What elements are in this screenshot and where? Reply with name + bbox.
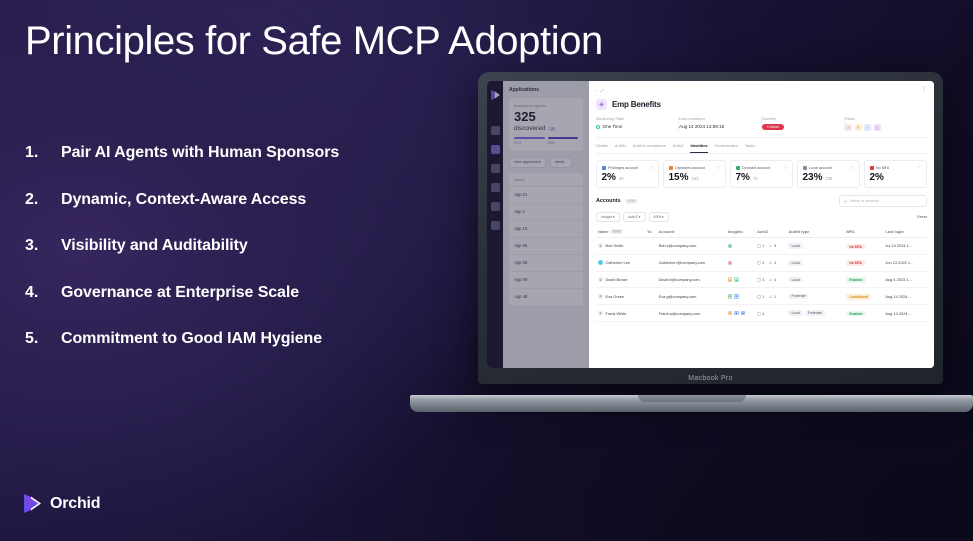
authn-tag: Local <box>788 243 802 249</box>
kpi-title: Local account <box>809 166 832 170</box>
cell-name-label: Catherine Lee <box>606 260 630 265</box>
list-item[interactable]: App 06 <box>509 255 583 272</box>
kpi-dormant-account[interactable]: Dormant account ⓘ 7% 71 <box>730 160 793 189</box>
kpi-value-row: 2% <box>870 173 922 183</box>
cell-authn-type: LocalFederate <box>786 305 844 322</box>
cell-account: Bob.s@company.com <box>657 238 726 255</box>
risk-icons: ☉ ⚲ ⋯ ▢ <box>845 124 881 131</box>
list-item-number: 2. <box>25 191 61 209</box>
list-item[interactable]: App 01 <box>509 187 583 204</box>
list-item-label: Visibility and Auditability <box>61 237 248 255</box>
table-header-row: Name 1035 To Account Insights AuthZ Auth… <box>596 226 927 238</box>
clock-icon[interactable] <box>491 183 500 192</box>
insight-badge-green[interactable]: ■ <box>728 244 733 249</box>
filter-authz[interactable]: AuthZ ▾ <box>623 212 646 222</box>
kpi-left: Dormant account <box>736 166 771 170</box>
shield-icon[interactable] <box>491 164 500 173</box>
cell-authn-type: Local <box>786 238 844 255</box>
cell-name: Catherine Lee <box>596 254 645 271</box>
user-icon: ☺ <box>768 294 772 299</box>
list-item-label: Governance at Enterprise Scale <box>61 284 299 302</box>
tab-details[interactable]: Details <box>596 143 608 153</box>
status-badge: No MFA <box>846 244 865 250</box>
cell-name-label: Frank White <box>606 311 627 316</box>
application-detail-panel: › ⤢ ⋮ ◈ Emp Benefits Monitoring State <box>589 81 934 368</box>
insight-badge-red[interactable]: ■ <box>728 261 733 266</box>
kpi-count: 71 <box>753 176 758 181</box>
kpi-color-swatch <box>736 166 740 170</box>
col-authz[interactable]: AuthZ <box>755 226 786 238</box>
insight-badge-green[interactable]: ■ <box>728 294 733 299</box>
authz-group-count: ▢1 <box>757 243 764 248</box>
authz-user-count: ☺5 <box>768 243 776 248</box>
identities-button[interactable]: Identi... <box>550 157 572 168</box>
progress-bar-1-label: 31% <box>514 141 545 145</box>
kpi-top: Local account ⓘ <box>803 165 855 171</box>
breadcrumb-chevron-icon: › <box>596 88 597 93</box>
status-badge: Enabled <box>846 277 865 283</box>
kpi-color-swatch <box>602 166 606 170</box>
kpi-orphaned-account[interactable]: Orphaned account ⓘ 15% 153 <box>663 160 726 189</box>
tab-authz[interactable]: AuthZ <box>673 143 683 153</box>
tools-icon[interactable] <box>491 202 500 211</box>
list-item[interactable]: App 10 <box>509 221 583 238</box>
kpi-percent: 7% <box>736 173 750 183</box>
accounts-header: Accounts 1035 ⚲ Name or account <box>596 195 927 207</box>
application-meta-row: Monitoring State One Time Last monitored… <box>596 116 927 138</box>
cell-authz: ▢1☺1 <box>755 288 786 305</box>
list-item[interactable]: App 09 <box>509 272 583 289</box>
cell-authn-type: Federate <box>786 288 844 305</box>
meta-monitoring-state: Monitoring State One Time <box>596 116 679 131</box>
cell-name-label: David Brown <box>606 277 628 282</box>
application-header: ◈ Emp Benefits <box>596 99 927 110</box>
progress-bar-1-wrap: 31% <box>514 137 545 145</box>
cell-authn-type: Local <box>786 271 844 288</box>
cell-last-login: Jun 13 2022 1... <box>883 254 927 271</box>
analysis-progress-card: Analysis progress 325 discovered 5 31% <box>509 98 583 151</box>
circle-outline-icon <box>596 125 600 129</box>
applications-panel-title: Applications <box>509 87 583 93</box>
cell-name-label: Bob Smith <box>606 243 624 248</box>
page-title: Principles for Safe MCP Adoption <box>25 18 603 64</box>
table-row[interactable]: ●David Brown David.b@company.com ■■ ▢4☺4… <box>596 271 927 288</box>
tab-authn[interactable]: AuthN <box>615 143 626 153</box>
tab-tasks[interactable]: Tasks <box>745 143 755 153</box>
meta-value-row: ☉ ⚲ ⋯ ▢ <box>845 124 921 131</box>
meta-risks: Risks ☉ ⚲ ⋯ ▢ <box>845 116 927 131</box>
cell-to <box>645 254 657 271</box>
cell-name: ●Bob Smith <box>596 238 645 255</box>
authn-tag: Local <box>788 277 802 283</box>
cell-account: Frank.w@company.com <box>657 305 726 322</box>
kpi-count: 235 <box>826 176 833 181</box>
cell-mfa: Conditional <box>844 288 883 305</box>
cell-name: ●Eva Green <box>596 288 645 305</box>
list-item[interactable]: App 05 <box>509 238 583 255</box>
breadcrumb[interactable]: › ⤢ <box>596 88 604 93</box>
cell-insights: ■ <box>726 238 755 255</box>
authn-tag: Local <box>788 260 802 266</box>
filter-chips: Insight ▾ AuthZ ▾ MFA ▾ <box>596 212 669 222</box>
insight-badge-orange[interactable]: ■ <box>728 311 733 316</box>
group-icon: ▢ <box>757 311 761 316</box>
meta-severity: Severity Critical <box>762 116 845 131</box>
avatar: ● <box>598 311 603 316</box>
kpi-top: Privileged account ⓘ <box>602 165 654 171</box>
insight-badge-blue[interactable]: ■ <box>734 311 739 316</box>
kpi-value-row: 2% 20 <box>602 173 654 183</box>
progress-bars: 31% 56% <box>514 137 578 145</box>
reset-filters-button[interactable]: Reset <box>917 215 927 219</box>
table-row[interactable]: Catherine Lee Catherine.l@company.com ■ … <box>596 254 927 271</box>
progress-bar-2-wrap: 56% <box>548 137 579 145</box>
accounts-title: Accounts <box>596 198 621 204</box>
cell-mfa: Enabled <box>844 305 883 322</box>
list-item-label: Commitment to Good IAM Hygiene <box>61 330 322 348</box>
expand-icon[interactable]: ⤢ <box>600 88 603 93</box>
search-placeholder: Name or account <box>850 199 879 203</box>
kpi-left: Orphaned account <box>669 166 706 170</box>
col-to[interactable]: To <box>645 226 657 238</box>
cell-last-login: Aug 4 2023 1... <box>883 271 927 288</box>
kpi-color-swatch <box>803 166 807 170</box>
kpi-color-swatch <box>870 166 874 170</box>
cell-mfa: No MFA <box>844 254 883 271</box>
cell-insights: ■■ <box>726 271 755 288</box>
cell-authz: ▢1☺5 <box>755 238 786 255</box>
risk-key-icon[interactable]: ⚲ <box>855 124 862 131</box>
cell-account: David.b@company.com <box>657 271 726 288</box>
kpi-top: Dormant account ⓘ <box>736 165 788 171</box>
cell-last-login: Jul 14 2024 1... <box>883 238 927 255</box>
list-item: 5. Commitment to Good IAM Hygiene <box>25 330 425 348</box>
brand-logo: Orchid <box>22 492 100 515</box>
info-icon[interactable]: ⓘ <box>650 165 654 171</box>
col-mfa[interactable]: MFA <box>844 226 883 238</box>
kpi-percent: 23% <box>803 173 823 183</box>
kpi-title: Privileged account <box>608 166 638 170</box>
cell-insights: ■ <box>726 254 755 271</box>
table-row[interactable]: ●Frank White Frank.w@company.com ■■■ ▢4 … <box>596 305 927 322</box>
meta-value-row: Critical <box>762 124 838 130</box>
grid-icon[interactable] <box>491 126 500 135</box>
meta-label: Risks <box>845 116 921 121</box>
cell-last-login: Aug 14 2024... <box>883 288 927 305</box>
application-icon: ◈ <box>596 99 607 110</box>
meta-last-monitored: Last monitored Aug 14 2024 13:59:18 <box>679 116 762 131</box>
avatar: ● <box>598 277 603 282</box>
user-icon: ☺ <box>768 260 772 265</box>
cell-to <box>645 271 657 288</box>
kpi-count: 20 <box>619 176 624 181</box>
list-item-label: Pair AI Agents with Human Sponsors <box>61 144 339 162</box>
cell-authz: ▢4 <box>755 305 786 322</box>
risk-lock-icon[interactable]: ☉ <box>845 124 852 131</box>
meta-label: Severity <box>762 116 838 121</box>
orchid-play-mark-icon <box>22 492 43 515</box>
more-vertical-icon[interactable]: ⋮ <box>921 89 927 93</box>
list-item: 4. Governance at Enterprise Scale <box>25 284 425 302</box>
meta-label: Last monitored <box>679 116 755 121</box>
gear-icon[interactable] <box>491 221 500 230</box>
cell-last-login: Aug 14 2024... <box>883 305 927 322</box>
discovered-count: 325 <box>514 110 578 123</box>
laptop-mockup: Applications Analysis progress 325 disco… <box>410 72 973 412</box>
authz-group-count: ▢4 <box>757 311 764 316</box>
risk-shield-icon[interactable]: ▢ <box>874 124 881 131</box>
authz-group-count: ▢4 <box>757 277 764 282</box>
insight-badge-blue[interactable]: ■ <box>741 311 746 316</box>
authz-group-count: ▢1 <box>757 294 764 299</box>
authz-user-count: ☺1 <box>768 294 776 299</box>
cell-name: ●Frank White <box>596 305 645 322</box>
status-badge: No MFA <box>846 260 865 266</box>
cell-authn-type: Local <box>786 254 844 271</box>
search-input[interactable]: ⚲ Name or account <box>839 195 927 207</box>
kpi-left: Privileged account <box>602 166 639 170</box>
info-icon[interactable]: ⓘ <box>717 165 721 171</box>
cell-to <box>645 305 657 322</box>
kpi-left: No MFA <box>870 166 890 170</box>
kpi-privileged-account[interactable]: Privileged account ⓘ 2% 20 <box>596 160 659 189</box>
slide-canvas: Principles for Safe MCP Adoption 1. Pair… <box>0 0 973 541</box>
kpi-percent: 2% <box>870 173 884 183</box>
accounts-table: Name 1035 To Account Insights AuthZ Auth… <box>596 226 927 322</box>
list-item-number: 1. <box>25 144 61 162</box>
list-item-number: 4. <box>25 284 61 302</box>
accounts-count: 1035 <box>625 199 638 204</box>
kpi-title: Orphaned account <box>675 166 705 170</box>
tab-audit-compliance[interactable]: Audit & compliance <box>633 143 666 153</box>
principles-list: 1. Pair AI Agents with Human Sponsors 2.… <box>25 144 425 377</box>
kpi-value-row: 15% 153 <box>669 173 721 183</box>
cell-name: ●David Brown <box>596 271 645 288</box>
discovered-label: discovered <box>514 125 545 132</box>
risk-dots-icon[interactable]: ⋯ <box>864 124 871 131</box>
progress-bar-2 <box>548 137 579 139</box>
filter-insight[interactable]: Insight ▾ <box>596 212 620 222</box>
applications-icon[interactable] <box>491 145 500 154</box>
accounts-title-group: Accounts 1035 <box>596 198 638 204</box>
avatar <box>598 260 603 265</box>
applications-actions: New application Identi... <box>509 157 583 168</box>
col-name-label: Name <box>598 229 609 234</box>
col-authn-type[interactable]: AuthN type <box>786 226 844 238</box>
list-item[interactable]: App 2 <box>509 204 583 221</box>
cell-insights: ■■■ <box>726 305 755 322</box>
col-account[interactable]: Account <box>657 226 726 238</box>
cell-account: Catherine.l@company.com <box>657 254 726 271</box>
filter-insight-label: Insight <box>601 215 612 219</box>
group-icon: ▢ <box>757 243 761 248</box>
kpi-value-row: 7% 71 <box>736 173 788 183</box>
cell-to <box>645 238 657 255</box>
search-icon: ⚲ <box>844 199 847 204</box>
applications-list-header: Name <box>509 173 583 187</box>
col-name[interactable]: Name 1035 <box>596 226 645 238</box>
cell-authz: ▢4☺4 <box>755 271 786 288</box>
group-icon: ▢ <box>757 260 761 265</box>
application-title: Emp Benefits <box>612 100 661 109</box>
meta-label: Monitoring State <box>596 116 672 121</box>
tab-identities[interactable]: Identities <box>690 143 707 153</box>
kpi-color-swatch <box>669 166 673 170</box>
user-icon: ☺ <box>768 243 772 248</box>
insight-badge-orange[interactable]: ■ <box>728 277 733 282</box>
list-item[interactable]: App 48 <box>509 289 583 306</box>
cell-mfa: No MFA <box>844 238 883 255</box>
group-icon: ▢ <box>757 277 761 282</box>
authn-tag: Local <box>788 310 802 316</box>
orchid-mark-icon <box>490 88 501 100</box>
avatar: ● <box>598 294 603 299</box>
app-nav-rail[interactable] <box>487 81 503 368</box>
list-item: 2. Dynamic, Context-Aware Access <box>25 191 425 209</box>
avatar: ● <box>598 243 603 248</box>
col-name-count: 1035 <box>610 229 623 234</box>
info-icon[interactable]: ⓘ <box>784 165 788 171</box>
info-icon[interactable]: ⓘ <box>918 165 922 171</box>
discovered-badge: 5 <box>548 127 556 131</box>
status-badge: Enabled <box>846 311 865 317</box>
authn-tag: Federate <box>805 310 825 316</box>
filter-authz-label: AuthZ <box>628 215 638 219</box>
kpi-count: 153 <box>692 176 699 181</box>
kpi-percent: 2% <box>602 173 616 183</box>
analysis-progress-label: Analysis progress <box>514 103 578 108</box>
kpi-cards: Privileged account ⓘ 2% 20 <box>596 154 927 195</box>
status-badge: Conditional <box>846 294 871 300</box>
list-item: 3. Visibility and Auditability <box>25 237 425 255</box>
progress-bar-2-label: 56% <box>548 141 579 145</box>
laptop-base <box>410 395 973 412</box>
detail-tabs[interactable]: Details AuthN Audit & compliance AuthZ I… <box>596 138 927 154</box>
list-item-number: 3. <box>25 237 61 255</box>
tab-orchestration[interactable]: Orchestration <box>715 143 738 153</box>
brand-name: Orchid <box>50 495 100 513</box>
new-application-button[interactable]: New application <box>509 157 546 168</box>
group-icon: ▢ <box>757 294 761 299</box>
table-row[interactable]: ●Bob Smith Bob.s@company.com ■ ▢1☺5 Loca… <box>596 238 927 255</box>
kpi-title: No MFA <box>876 166 889 170</box>
authz-user-count: ☺4 <box>768 277 776 282</box>
meta-value: One Time <box>603 124 623 129</box>
cell-authz: ▢4☺4 <box>755 254 786 271</box>
discovered-row: discovered 5 <box>514 125 578 132</box>
kpi-title: Dormant account <box>742 166 770 170</box>
table-row[interactable]: ●Eva Green Eva.g@company.com ■■ ▢1☺1 Fed… <box>596 288 927 305</box>
filter-mfa-label: MFA <box>654 215 661 219</box>
insight-badge-blue[interactable]: ■ <box>734 294 739 299</box>
kpi-top: Orphaned account ⓘ <box>669 165 721 171</box>
kpi-top: No MFA ⓘ <box>870 165 922 171</box>
cell-name-label: Eva Green <box>606 294 625 299</box>
laptop-screen: Applications Analysis progress 325 disco… <box>487 81 934 368</box>
kpi-local-account[interactable]: Local account ⓘ 23% 235 <box>797 160 860 189</box>
kpi-percent: 15% <box>669 173 689 183</box>
progress-bar-1 <box>514 137 545 139</box>
accounts-filters: Insight ▾ AuthZ ▾ MFA ▾ Reset <box>596 212 927 222</box>
cell-mfa: Enabled <box>844 271 883 288</box>
col-last-login[interactable]: Last login <box>883 226 927 238</box>
laptop-model-label: Macbook Pro <box>478 375 943 382</box>
authz-user-count: ☺4 <box>768 260 776 265</box>
cell-to <box>645 288 657 305</box>
user-icon: ☺ <box>768 277 772 282</box>
col-insights[interactable]: Insights <box>726 226 755 238</box>
status-badge: Critical <box>762 124 784 130</box>
detail-topbar: › ⤢ ⋮ <box>596 86 927 95</box>
laptop-lid: Applications Analysis progress 325 disco… <box>478 72 943 384</box>
list-item: 1. Pair AI Agents with Human Sponsors <box>25 144 425 162</box>
applications-panel: Applications Analysis progress 325 disco… <box>503 81 589 368</box>
meta-value-row: One Time <box>596 124 672 129</box>
info-icon[interactable]: ⓘ <box>851 165 855 171</box>
cell-account: Eva.g@company.com <box>657 288 726 305</box>
authn-tag: Federate <box>788 294 808 300</box>
authz-group-count: ▢4 <box>757 260 764 265</box>
kpi-no-mfa[interactable]: No MFA ⓘ 2% <box>864 160 927 189</box>
orchid-app: Applications Analysis progress 325 disco… <box>487 81 934 368</box>
list-item-label: Dynamic, Context-Aware Access <box>61 191 306 209</box>
list-item-number: 5. <box>25 330 61 348</box>
meta-value: Aug 14 2024 13:59:18 <box>679 124 755 129</box>
filter-mfa[interactable]: MFA ▾ <box>649 212 669 222</box>
insight-badge-green[interactable]: ■ <box>734 277 739 282</box>
kpi-value-row: 23% 235 <box>803 173 855 183</box>
kpi-left: Local account <box>803 166 832 170</box>
cell-insights: ■■ <box>726 288 755 305</box>
